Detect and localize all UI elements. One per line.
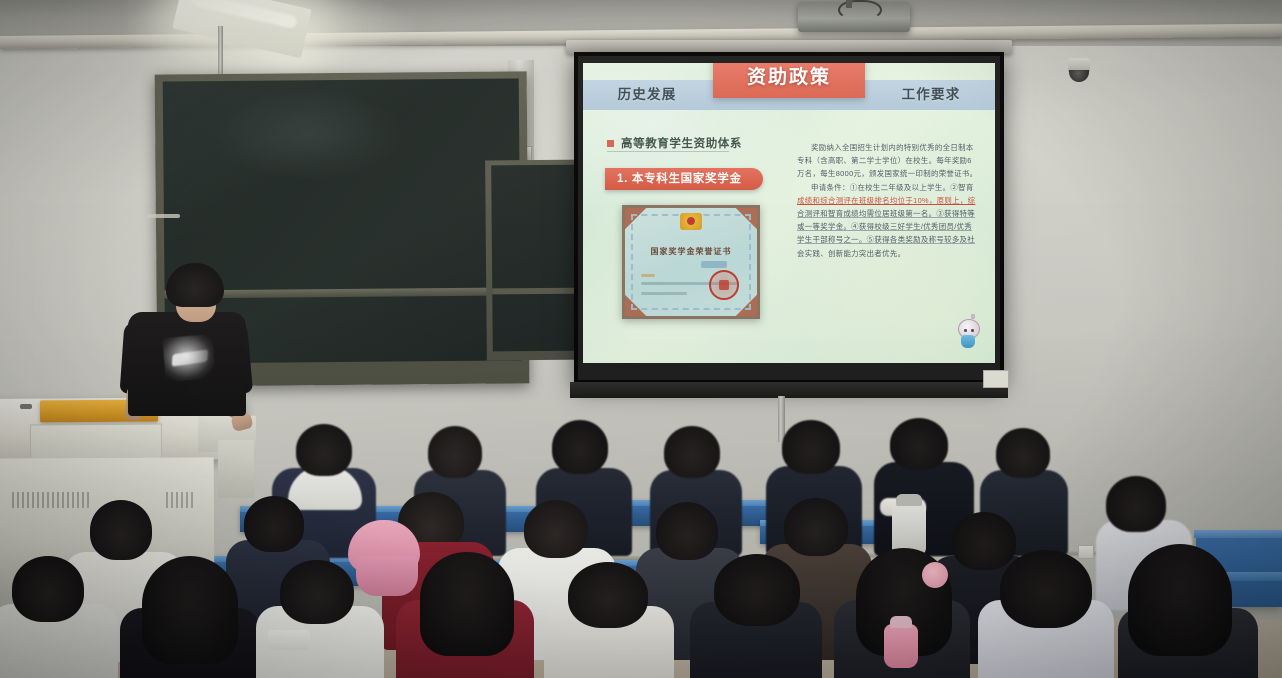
official-seal-icon	[709, 270, 739, 300]
student-head-3	[552, 420, 608, 474]
slide-body-text: 奖励纳入全国招生计划内的特别优秀的全日制本 专科（含高职、第二学士学位）在校生。…	[797, 141, 971, 260]
student-head-15	[952, 512, 1016, 570]
tab-funding-policy[interactable]: 资助政策	[713, 63, 865, 98]
body-line-6: 或一等奖学金。④获得校级三好学生/优秀团员/优秀	[797, 220, 971, 233]
body-line-7: 学生干部称号之一。⑤获得各类奖励及称号较多及社	[797, 233, 971, 246]
student-head-12	[524, 500, 588, 558]
tab-history[interactable]: 历史发展	[599, 80, 695, 110]
blackboard-sheen	[215, 88, 406, 180]
student-long-hair-2	[420, 552, 514, 656]
mascot-antenna	[971, 314, 975, 319]
certificate-line-2	[641, 292, 687, 295]
certificate-line-0	[641, 274, 655, 277]
student-head-6	[890, 418, 948, 470]
student-head-9	[90, 500, 152, 560]
presentation-slide: 历史发展 工作要求 资助政策 高等教育学生资助体系 1. 本专科生国家奖学金 国…	[583, 63, 995, 363]
body-line-2: 万名，每生8000元，颁发国家统一印制的荣誉证书。	[797, 167, 971, 180]
water-bottle-pink	[884, 624, 918, 668]
certificate-number-stamp	[701, 261, 727, 268]
bullet-heading-label: 高等教育学生资助体系	[621, 135, 742, 151]
classroom-photo: 历史发展 工作要求 资助政策 高等教育学生资助体系 1. 本专科生国家奖学金 国…	[0, 0, 1282, 678]
chalk-stick	[146, 214, 180, 218]
student-front-head-6	[1000, 550, 1092, 628]
certificate-title: 国家奖学金荣誉证书	[625, 246, 757, 257]
body-line-8: 会实践、创新能力突出者优先。	[797, 247, 971, 260]
mascot-eye-left	[964, 329, 967, 332]
lamp-tube	[190, 0, 298, 29]
slide-bullet-heading: 高等教育学生资助体系	[607, 135, 742, 151]
mascot-body	[961, 335, 975, 348]
podium-front-panel	[30, 424, 162, 461]
student-head-7	[996, 428, 1050, 478]
robot-mascot-icon	[957, 315, 979, 349]
heading-underline	[607, 151, 729, 152]
body-line-5: 合测评和智育成绩均需位居班级第一名。③获得特等	[797, 207, 971, 220]
screen-bottom-bar	[570, 382, 1008, 398]
student-long-hair-4	[1128, 544, 1232, 656]
student-long-hair-1	[142, 556, 238, 664]
student-front-head-1	[12, 556, 84, 622]
student-front-head-3	[568, 562, 648, 628]
section-tag-scholarship: 1. 本专科生国家奖学金	[605, 168, 763, 190]
wall-mounted-box	[983, 370, 1009, 388]
podium-vent-right	[166, 492, 196, 508]
body-line-1: 专科（含高职、第二学士学位）在校生。每年奖励6	[797, 154, 971, 167]
projector-mount	[846, 0, 852, 8]
student-head-10	[244, 496, 304, 552]
student-head-14	[784, 498, 848, 556]
thermos-lid	[896, 494, 922, 506]
certificate-inner: 国家奖学金荣誉证书	[625, 208, 757, 316]
body-line-3: 申请条件：①在校生二年级及以上学生。②智育	[797, 181, 971, 194]
podium-control-knob	[20, 404, 32, 409]
student-pink-hair-clip	[922, 562, 948, 588]
water-bottle-cap	[890, 616, 912, 628]
national-emblem-icon	[680, 213, 702, 230]
student-head-13	[656, 502, 718, 560]
student-shirt-logo	[268, 630, 310, 650]
mascot-eye-right	[971, 329, 974, 332]
body-line-0: 奖励纳入全国招生计划内的特别优秀的全日制本	[797, 141, 971, 154]
podium-cabinet	[218, 440, 254, 498]
tab-work-requirements[interactable]: 工作要求	[883, 80, 979, 110]
pink-cap-brim	[356, 556, 418, 596]
desk-top-surface	[1194, 530, 1282, 538]
student-head-4	[664, 426, 720, 478]
projector-cable	[838, 0, 882, 20]
student-head-5	[782, 420, 840, 474]
student-head-8	[1106, 476, 1166, 532]
wall-power-outlet	[1078, 545, 1094, 559]
podium-vent-left	[12, 492, 90, 508]
student-head-2	[428, 426, 482, 478]
student-front-head-2	[280, 560, 354, 624]
student-front-head-4	[714, 554, 800, 626]
body-line-4: 成绩和综合测评在班级排名均位于10%，原则上，综	[797, 194, 971, 207]
student-head-1	[296, 424, 352, 476]
certificate-image: 国家奖学金荣誉证书	[622, 205, 760, 319]
bullet-square-icon	[607, 140, 614, 147]
